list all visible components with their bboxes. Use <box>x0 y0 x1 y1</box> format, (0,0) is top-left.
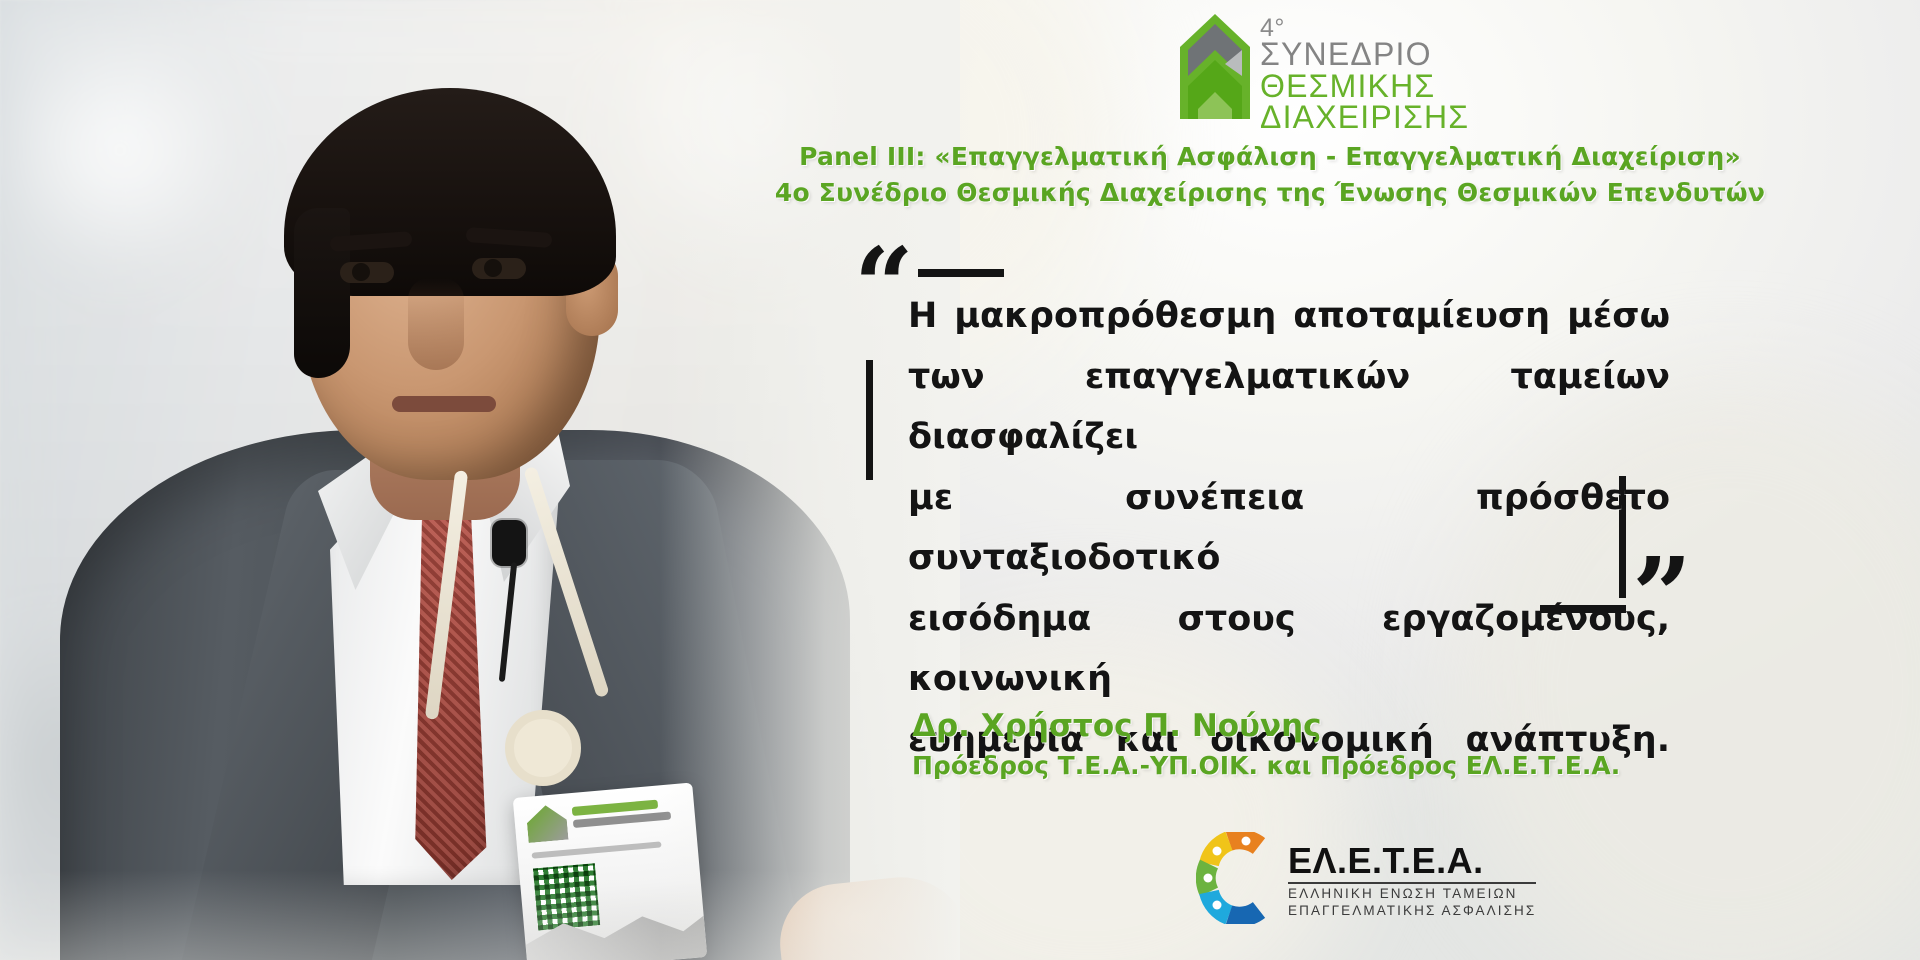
eletea-subtitle-1: ΕΛΛΗΝΙΚΗ ΕΝΩΣΗ ΤΑΜΕΙΩΝ <box>1288 886 1536 903</box>
logo-line-1: ΣΥΝΕΔΡΙΟ <box>1260 39 1469 71</box>
quote-card: 4° ΣΥΝΕΔΡΙΟ ΘΕΣΜΙΚΗΣ ΔΙΑΧΕΙΡΙΣΗΣ Panel I… <box>0 0 1920 960</box>
closing-quote-icon: ” <box>1632 564 1692 628</box>
conference-logo-text: 4° ΣΥΝΕΔΡΙΟ ΘΕΣΜΙΚΗΣ ΔΙΑΧΕΙΡΙΣΗΣ <box>1260 14 1469 134</box>
eletea-subtitle-2: ΕΠΑΓΓΕΛΜΑΤΙΚΗΣ ΑΣΦΑΛΙΣΗΣ <box>1288 903 1536 920</box>
lapel-microphone <box>492 520 526 566</box>
quote-line: των επαγγελματικών ταμείων διασφαλίζει <box>908 347 1670 468</box>
opening-quote-icon: “ <box>854 254 914 318</box>
nose <box>408 278 464 370</box>
badge-line <box>532 841 662 858</box>
eletea-divider <box>1288 882 1536 884</box>
quote-vertical-bar-left <box>866 360 873 480</box>
puzzle-ring-icon <box>1196 832 1282 924</box>
panel-title-line-2: 4ο Συνέδριο Θεσμικής Διαχείρισης της Ένω… <box>670 175 1870 211</box>
speaker-role: Πρόεδρος Τ.Ε.Α.-ΥΠ.ΟΙΚ. και Πρόεδρος ΕΛ.… <box>912 748 1620 784</box>
logo-line-2: ΘΕΣΜΙΚΗΣ <box>1260 71 1469 103</box>
speaker-name: Δρ. Χρήστος Π. Νούνης <box>912 705 1620 748</box>
quote-rule-bottom <box>1540 605 1626 613</box>
badge-logo-icon <box>526 804 569 843</box>
quote-rule-top <box>918 269 1004 277</box>
pupil-left <box>352 263 370 281</box>
chevron-arrow-icon <box>1180 14 1250 119</box>
logo-line-3: ΔΙΑΧΕΙΡΙΣΗΣ <box>1260 102 1469 134</box>
mouth <box>392 396 496 412</box>
quote-text: Η μακροπρόθεσμη αποταμίευση μέσω των επα… <box>908 286 1670 770</box>
eletea-logo-text: ΕΛ.Ε.Τ.Ε.Α. ΕΛΛΗΝΙΚΗ ΕΝΩΣΗ ΤΑΜΕΙΩΝ ΕΠΑΓΓ… <box>1288 837 1536 920</box>
eletea-logo: ΕΛ.Ε.Τ.Ε.Α. ΕΛΛΗΝΙΚΗ ΕΝΩΣΗ ΤΑΜΕΙΩΝ ΕΠΑΓΓ… <box>1196 832 1536 924</box>
attribution: Δρ. Χρήστος Π. Νούνης Πρόεδρος Τ.Ε.Α.-ΥΠ… <box>912 705 1620 784</box>
conference-logo: 4° ΣΥΝΕΔΡΙΟ ΘΕΣΜΙΚΗΣ ΔΙΑΧΕΙΡΙΣΗΣ <box>1180 14 1469 134</box>
panel-title: Panel III: «Επαγγελματική Ασφάλιση - Επα… <box>670 139 1870 210</box>
panel-title-line-1: Panel III: «Επαγγελματική Ασφάλιση - Επα… <box>670 139 1870 175</box>
photo-edge-fade <box>0 870 960 960</box>
quote-line: Η μακροπρόθεσμη αποταμίευση μέσω <box>908 286 1670 347</box>
closing-quote-group: ” <box>1540 564 1692 628</box>
lanyard-ring <box>505 710 581 786</box>
pupil-right <box>484 259 502 277</box>
eletea-acronym: ΕΛ.Ε.Τ.Ε.Α. <box>1288 843 1536 879</box>
